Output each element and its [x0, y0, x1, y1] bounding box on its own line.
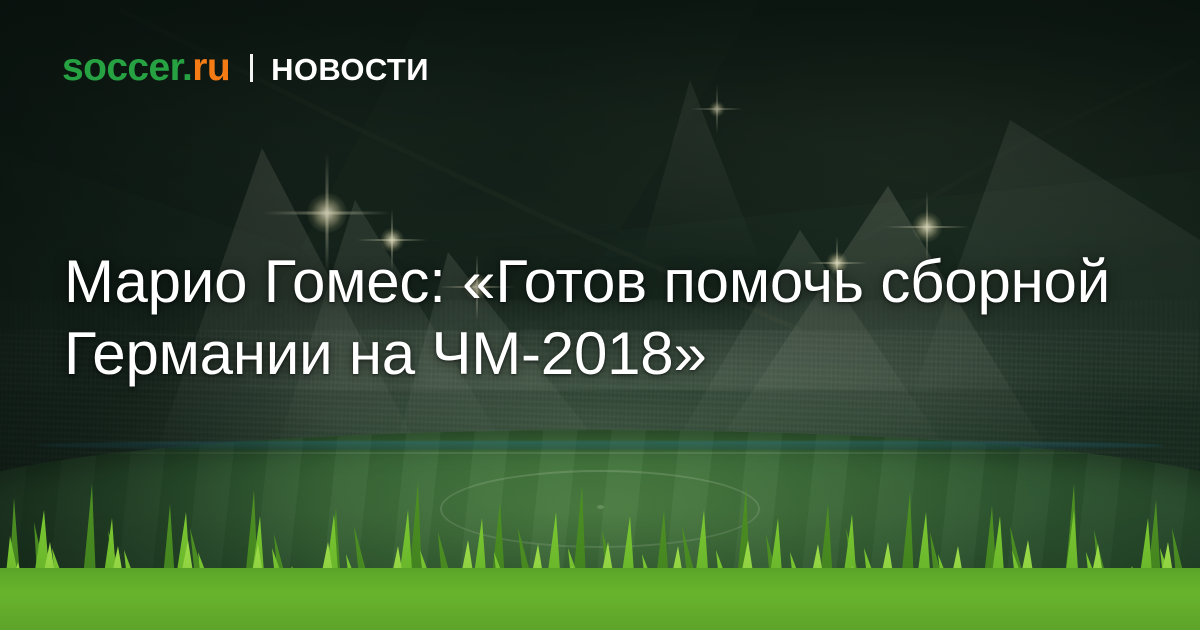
logo-word-ru: ru	[192, 46, 230, 89]
header-separator	[250, 54, 253, 82]
news-share-card: soccer.ru НОВОСТИ Марио Гомес: «Готов по…	[0, 0, 1200, 630]
section-label-news: НОВОСТИ	[271, 54, 429, 85]
soccer-ru-logo[interactable]: soccer.ru	[62, 48, 230, 87]
grass-base	[0, 568, 1200, 630]
grass-foreground	[0, 470, 1200, 630]
logo-dot: .	[182, 46, 192, 89]
page-title: Марио Гомес: «Готов помочь сборной Герма…	[64, 246, 1154, 390]
logo-word-soccer: soccer	[62, 46, 182, 89]
brand-header: soccer.ru НОВОСТИ	[62, 48, 429, 87]
